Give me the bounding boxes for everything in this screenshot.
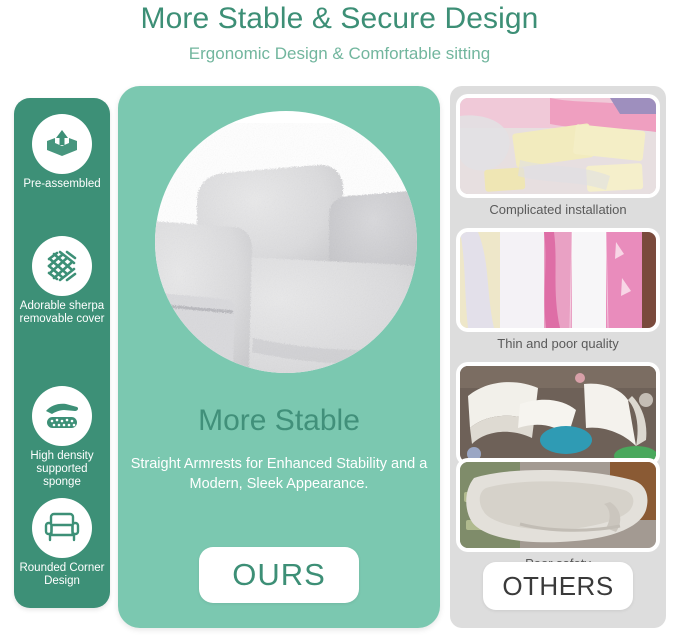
photo-foam-in-packaging [460, 98, 656, 194]
comparison-label: Complicated installation [450, 202, 666, 217]
feature-item-pre-assembled: Pre-assembled [14, 114, 110, 191]
feature-item-rounded-corner: Rounded Corner Design [14, 498, 110, 588]
feature-label: High density supported sponge [14, 450, 110, 489]
feature-label: Pre-assembled [14, 178, 110, 191]
product-photo-armchair [155, 123, 417, 373]
ours-description: Straight Armrests for Enhanced Stability… [128, 454, 430, 494]
armchair-icon [32, 498, 92, 558]
others-panel: Complicated installation [450, 86, 666, 628]
ours-heading: More Stable [118, 404, 440, 438]
feature-item-sherpa-cover: Adorable sherpa removable cover [14, 236, 110, 326]
page-subtitle: Ergonomic Design & Comfortable sitting [0, 44, 679, 64]
ours-badge: OURS [199, 547, 359, 603]
others-badge: OTHERS [483, 562, 633, 610]
features-sidebar: Pre-assembled Adorable sherpa removable … [14, 98, 110, 608]
comparison-item-complicated-installation: Complicated installation [450, 98, 666, 217]
woven-fabric-icon [32, 236, 92, 296]
comparison-item-thin-poor-quality: Thin and poor quality [450, 232, 666, 351]
comparison-item-poor-safety: Poor safety [450, 462, 666, 571]
photo-thin-foam-panels [460, 366, 656, 462]
feature-label: Rounded Corner Design [14, 562, 110, 588]
feature-item-high-density-sponge: High density supported sponge [14, 386, 110, 489]
feature-label: Adorable sherpa removable cover [14, 300, 110, 326]
header: More Stable & Secure Design Ergonomic De… [0, 0, 679, 80]
ours-panel: More Stable Straight Armrests for Enhanc… [118, 86, 440, 628]
comparison-label: Thin and poor quality [450, 336, 666, 351]
product-image-circle [155, 111, 417, 373]
hand-pressing-sponge-icon [32, 386, 92, 446]
open-box-arrow-icon [32, 114, 92, 174]
photo-sagging-chair [460, 462, 656, 548]
page-title: More Stable & Secure Design [0, 2, 679, 36]
photo-thin-fabric [460, 232, 656, 328]
